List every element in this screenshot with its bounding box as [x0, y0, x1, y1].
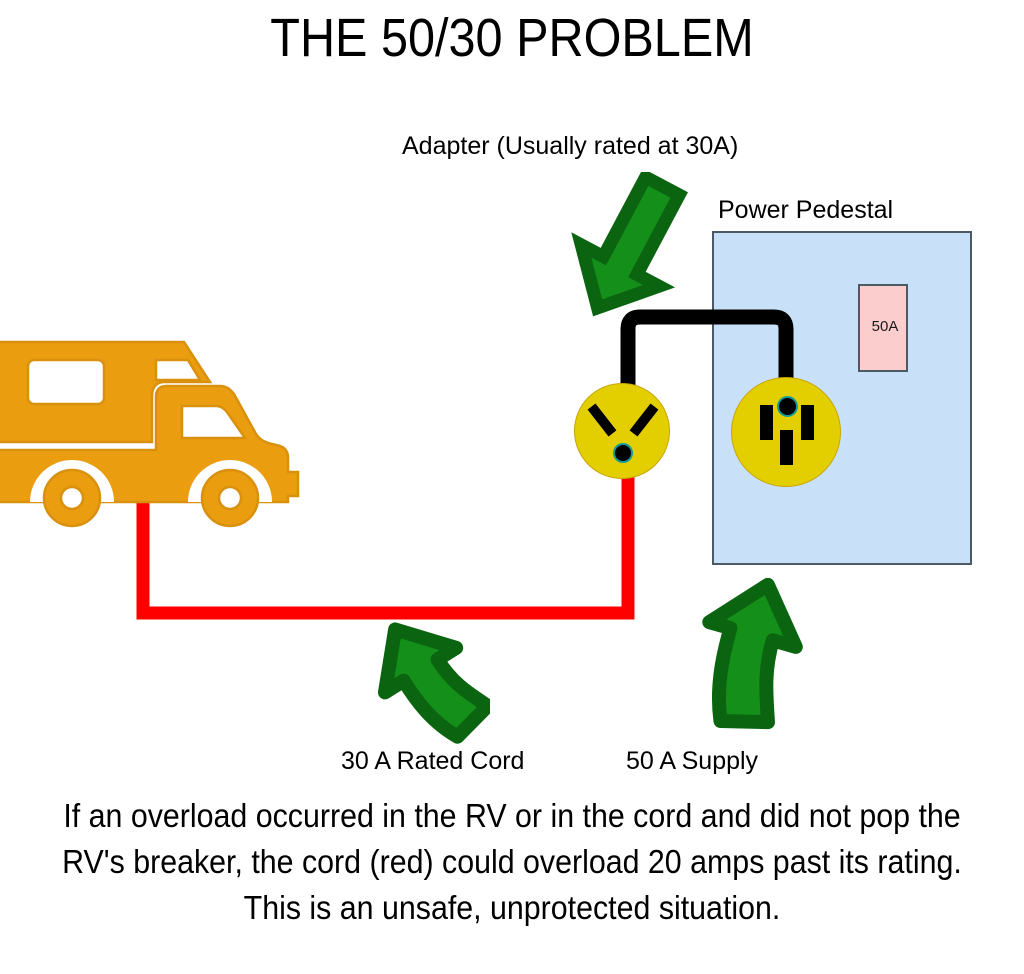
adapter-blade-right [630, 404, 659, 437]
rv-coach-window [28, 360, 104, 404]
rv-hub-front [219, 487, 241, 509]
adapter-ground-hole [613, 443, 633, 463]
arrow-adapter [571, 172, 689, 322]
adapter-blade-left [588, 404, 617, 437]
rv-hub-rear [61, 487, 83, 509]
arrow-50a-supply [686, 578, 810, 730]
caption-text: If an overload occurred in the RV or in … [45, 793, 980, 931]
arrow-rated-cord [366, 616, 490, 748]
receptacle-slot-right [801, 405, 814, 440]
receptacle-ground-hole [777, 396, 798, 417]
adapter-plug-30a [574, 383, 670, 479]
receptacle-slot-left [760, 405, 773, 440]
receptacle-50a [731, 377, 841, 487]
receptacle-slot-bottom [780, 430, 793, 465]
rv-illustration [0, 330, 308, 530]
diagram-canvas: THE 50/30 PROBLEM Adapter (Usually rated… [0, 0, 1024, 974]
